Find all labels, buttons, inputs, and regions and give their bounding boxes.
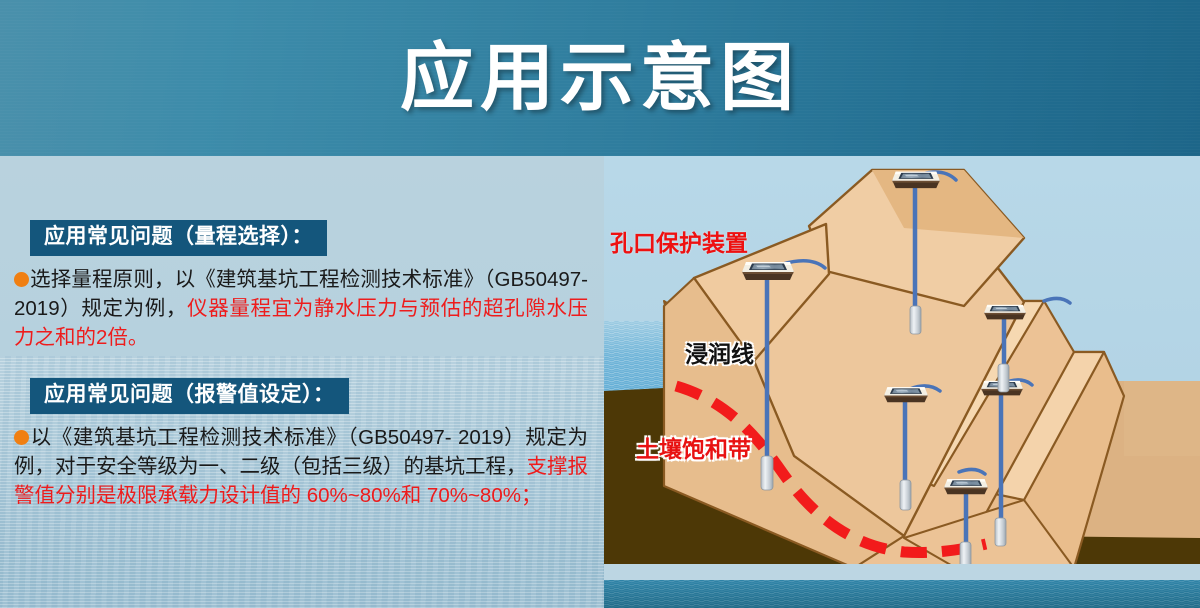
- label-saturated-soil-zone: 土壤饱和带: [636, 438, 751, 461]
- bullet-icon: [14, 272, 29, 287]
- page-title: 应用示意图: [0, 0, 1200, 156]
- faq-badge-alarm-value: 应用常见问题（报警值设定）：: [30, 378, 349, 414]
- application-diagram-page: 应用示意图 应用常见问题（量程选择）： 选择量程原则，以《建筑基坑工程检测技术标…: [0, 0, 1200, 608]
- page-header: 应用示意图: [0, 0, 1200, 156]
- label-wellhead-protection-device: 孔口保护装置: [610, 232, 748, 255]
- faq-body-alarm-value: 以《建筑基坑工程检测技术标准》（GB50497- 2019）规定为例，对于安全等…: [14, 424, 588, 510]
- faq-badge-range-selection: 应用常见问题（量程选择）：: [30, 220, 327, 256]
- label-phreatic-line: 浸润线: [685, 343, 754, 366]
- bullet-icon: [14, 430, 29, 445]
- faq-body-range-selection: 选择量程原则，以《建筑基坑工程检测技术标准》（GB50497-2019）规定为例…: [14, 266, 588, 352]
- faq-block-alarm-value: 应用常见问题（报警值设定）： 以《建筑基坑工程检测技术标准》（GB50497- …: [0, 378, 604, 510]
- left-text-panel: 应用常见问题（量程选择）： 选择量程原则，以《建筑基坑工程检测技术标准》（GB5…: [0, 156, 604, 608]
- faq-text-plain-alarm: 以《建筑基坑工程检测技术标准》（GB50497- 2019）规定为例，对于安全等…: [14, 426, 588, 478]
- illustration-panel: 孔口保护装置 浸润线 土壤饱和带: [604, 156, 1200, 608]
- embankment-illustration: [604, 156, 1200, 608]
- faq-block-range-selection: 应用常见问题（量程选择）： 选择量程原则，以《建筑基坑工程检测技术标准》（GB5…: [0, 220, 604, 352]
